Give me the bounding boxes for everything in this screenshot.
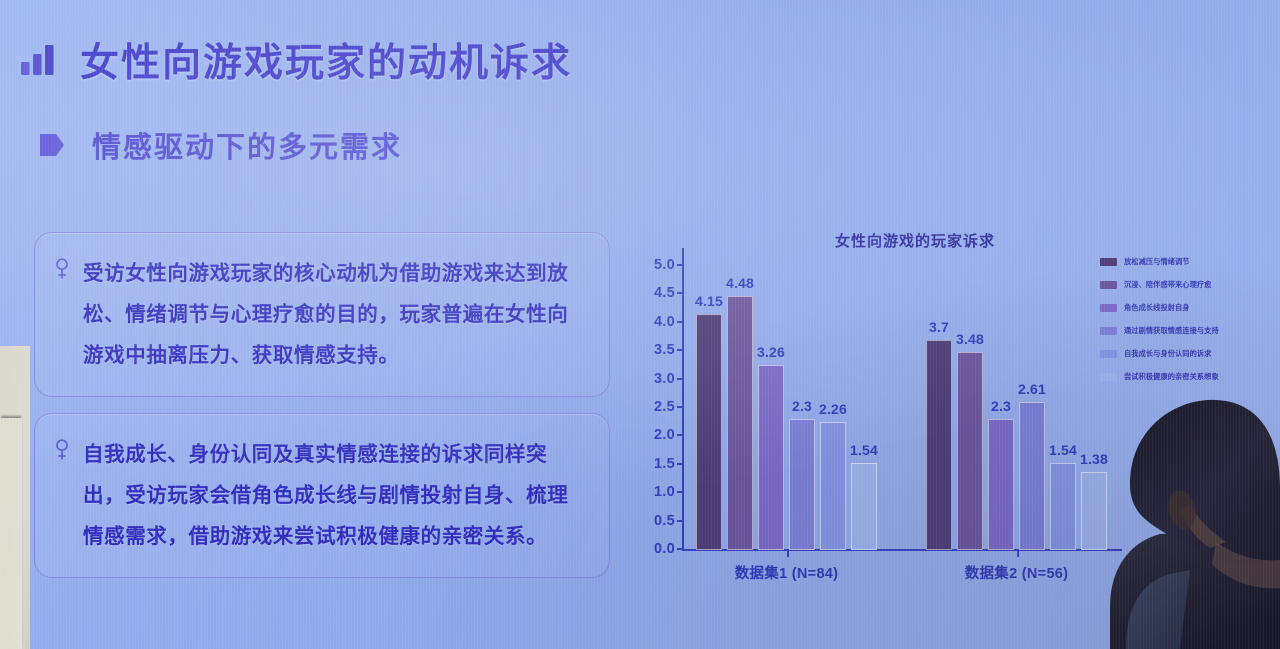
chart-bar bbox=[957, 352, 983, 550]
y-axis-tick-label: 2.5 bbox=[654, 399, 675, 415]
insight-card-text: 受访女性向游戏玩家的核心动机为借助游戏来达到放松、情绪调节与心理疗愈的目的，玩家… bbox=[83, 253, 587, 376]
bar-value-label: 2.61 bbox=[1018, 381, 1046, 397]
legend-color-swatch bbox=[1100, 258, 1117, 266]
legend-item: 尝试积极健康的亲密关系想象 bbox=[1100, 365, 1272, 388]
y-axis-tick bbox=[677, 548, 684, 550]
projected-slide-photo: 女性向游戏玩家的动机诉求 情感驱动下的多元需求 受访女性向游戏玩家的核心动机为借… bbox=[0, 0, 1280, 649]
chart-bar bbox=[851, 463, 877, 550]
legend-color-swatch bbox=[1100, 327, 1117, 335]
legend-color-swatch bbox=[1100, 304, 1117, 312]
bar-value-label: 4.15 bbox=[695, 293, 723, 309]
y-axis-tick bbox=[677, 321, 684, 323]
bar-value-label: 2.3 bbox=[991, 398, 1011, 414]
chart-bar bbox=[696, 314, 722, 550]
legend-item: 自我成长与身份认同的诉求 bbox=[1100, 342, 1272, 365]
y-axis-tick-label: 1.0 bbox=[654, 484, 675, 500]
play-triangle-icon bbox=[36, 130, 66, 160]
x-axis-tick bbox=[787, 550, 789, 557]
legend-item-label: 自我成长与身份认同的诉求 bbox=[1124, 349, 1211, 359]
y-axis-tick-label: 4.5 bbox=[654, 285, 675, 301]
y-axis-tick bbox=[677, 463, 684, 465]
insight-card-text: 自我成长、身份认同及真实情感连接的诉求同样突出，受访玩家会借角色成长线与剧情投射… bbox=[83, 434, 587, 557]
slide-subheading: 情感驱动下的多元需求 bbox=[36, 124, 402, 166]
y-axis-tick-label: 0.5 bbox=[654, 513, 675, 529]
legend-item-label: 沉浸、陪伴感带来心理疗愈 bbox=[1124, 280, 1211, 290]
y-axis-tick bbox=[677, 292, 684, 294]
y-axis-tick bbox=[677, 264, 684, 266]
y-axis-tick bbox=[677, 406, 684, 408]
page-title: 女性向游戏玩家的动机诉求 bbox=[80, 32, 572, 88]
legend-item: 通过剧情获取情感连接与支持 bbox=[1100, 319, 1272, 342]
bar-value-label: 3.7 bbox=[929, 319, 949, 335]
legend-color-swatch bbox=[1100, 281, 1117, 289]
legend-item-label: 角色成长线投射自身 bbox=[1124, 303, 1190, 313]
legend-item-label: 尝试积极健康的亲密关系想象 bbox=[1124, 372, 1219, 382]
y-axis-tick bbox=[677, 520, 684, 522]
bar-chart-icon bbox=[18, 40, 58, 80]
y-axis-tick-label: 5.0 bbox=[654, 257, 675, 273]
legend-item-label: 放松减压与情绪调节 bbox=[1124, 257, 1190, 267]
y-axis-tick-label: 0.0 bbox=[654, 541, 675, 557]
chart-bar bbox=[1050, 463, 1076, 550]
y-axis-tick-label: 4.0 bbox=[654, 314, 675, 330]
insight-card-list: 受访女性向游戏玩家的核心动机为借助游戏来达到放松、情绪调节与心理疗愈的目的，玩家… bbox=[34, 232, 610, 578]
x-axis-tick bbox=[1017, 550, 1019, 557]
chart-bar bbox=[988, 419, 1014, 550]
legend-item-label: 通过剧情获取情感连接与支持 bbox=[1124, 326, 1219, 336]
x-axis-group-label: 数据集2 (N=56) bbox=[965, 562, 1069, 583]
chart-legend: 放松减压与情绪调节沉浸、陪伴感带来心理疗愈角色成长线投射自身通过剧情获取情感连接… bbox=[1100, 250, 1272, 388]
chart-plot-area: 0.00.51.01.52.02.53.03.54.04.55.04.154.4… bbox=[640, 248, 1140, 558]
venus-female-icon bbox=[55, 253, 69, 280]
legend-color-swatch bbox=[1100, 350, 1117, 358]
chart-bar bbox=[1019, 402, 1045, 550]
legend-item: 角色成长线投射自身 bbox=[1100, 296, 1272, 319]
bar-value-label: 4.48 bbox=[726, 275, 754, 291]
bar-value-label: 2.3 bbox=[792, 398, 812, 414]
bar-value-label: 3.48 bbox=[956, 331, 984, 347]
chart-bar bbox=[1081, 472, 1107, 550]
insight-card: 受访女性向游戏玩家的核心动机为借助游戏来达到放松、情绪调节与心理疗愈的目的，玩家… bbox=[34, 232, 610, 397]
y-axis-tick bbox=[677, 378, 684, 380]
insight-card: 自我成长、身份认同及真实情感连接的诉求同样突出，受访玩家会借角色成长线与剧情投射… bbox=[34, 413, 610, 578]
y-axis-tick-label: 1.5 bbox=[654, 456, 675, 472]
legend-color-swatch bbox=[1100, 373, 1117, 381]
bar-value-label: 1.38 bbox=[1080, 451, 1108, 467]
x-axis-group-label: 数据集1 (N=84) bbox=[735, 562, 839, 583]
chart-bar bbox=[789, 419, 815, 550]
legend-item: 沉浸、陪伴感带来心理疗愈 bbox=[1100, 273, 1272, 296]
room-wall-left-edge-lower bbox=[0, 418, 22, 649]
subheading-text: 情感驱动下的多元需求 bbox=[92, 124, 402, 166]
y-axis-tick-label: 3.5 bbox=[654, 342, 675, 358]
bar-value-label: 3.26 bbox=[757, 344, 785, 360]
bar-value-label: 2.26 bbox=[819, 401, 847, 417]
chart-bar bbox=[727, 296, 753, 550]
y-axis-tick bbox=[677, 491, 684, 493]
bar-value-label: 1.54 bbox=[1049, 442, 1077, 458]
venus-female-icon bbox=[55, 434, 69, 461]
chart-bar bbox=[820, 422, 846, 550]
y-axis-tick-label: 3.0 bbox=[654, 371, 675, 387]
y-axis-tick bbox=[677, 434, 684, 436]
chart-bar bbox=[926, 340, 952, 550]
legend-item: 放松减压与情绪调节 bbox=[1100, 250, 1272, 273]
y-axis-tick-label: 2.0 bbox=[654, 427, 675, 443]
chart-bar bbox=[758, 365, 784, 550]
bar-value-label: 1.54 bbox=[850, 442, 878, 458]
y-axis-tick bbox=[677, 349, 684, 351]
slide-header: 女性向游戏玩家的动机诉求 bbox=[18, 32, 572, 88]
bar-chart: 女性向游戏的玩家诉求 0.00.51.01.52.02.53.03.54.04.… bbox=[640, 226, 1140, 586]
